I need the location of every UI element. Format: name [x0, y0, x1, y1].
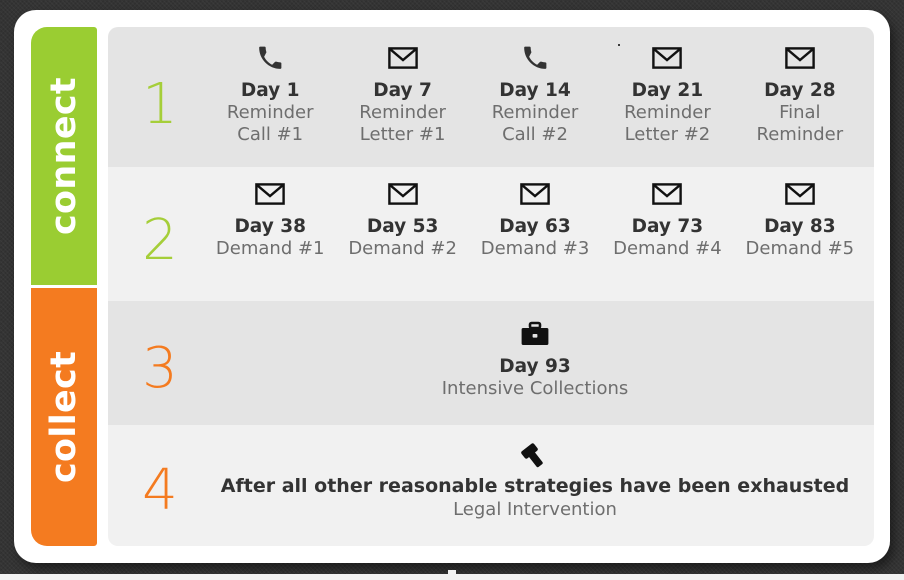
step-number-3: 3: [132, 341, 188, 397]
step-sub-line-1: Reminder: [227, 102, 314, 124]
envelope-icon: [652, 45, 682, 75]
step-sub-line-2: Call #2: [502, 124, 568, 146]
step-sub-line-1: Final: [779, 102, 820, 124]
stage-rail-connect[interactable]: connect: [31, 27, 97, 285]
envelope-icon: [255, 181, 285, 211]
workflow-card: connect collect 1 Day 1 Reminder Call #1: [14, 10, 890, 563]
step-sub-line-1: Demand #3: [481, 238, 590, 260]
step-sub-line-1: Reminder: [492, 102, 579, 124]
step-title: Day 7: [373, 79, 432, 102]
step-cell-day-83[interactable]: Day 83 Demand #5: [734, 181, 866, 301]
timeline-row-4[interactable]: 4 After all other reasonable strategies …: [108, 425, 874, 546]
envelope-icon: [520, 181, 550, 211]
step-cell-day-1[interactable]: Day 1 Reminder Call #1: [204, 45, 336, 167]
step-title: Day 53: [367, 215, 439, 238]
envelope-icon: [785, 45, 815, 75]
step-title: Day 63: [499, 215, 571, 238]
step-sub-line-1: Legal Intervention: [453, 499, 617, 521]
render-artifact-dot: [618, 44, 620, 46]
briefcase-icon: [520, 321, 550, 351]
timeline-panel: 1 Day 1 Reminder Call #1 Day 7 Reminder: [108, 27, 874, 546]
step-title: Day 73: [632, 215, 704, 238]
stage-rail-collect-label: collect: [31, 288, 97, 546]
envelope-icon: [652, 181, 682, 211]
step-cell-day-28[interactable]: Day 28 Final Reminder: [734, 45, 866, 167]
step-cell-day-14[interactable]: Day 14 Reminder Call #2: [469, 45, 601, 167]
step-sub-line-1: Demand #4: [613, 238, 722, 260]
step-title: After all other reasonable strategies ha…: [221, 475, 849, 499]
render-artifact-square: [448, 570, 456, 578]
step-sub-line-1: Demand #1: [216, 238, 325, 260]
step-cell-day-63[interactable]: Day 63 Demand #3: [469, 181, 601, 301]
stage-rail-connect-label: connect: [31, 27, 97, 285]
row-3-cells: Day 93 Intensive Collections: [204, 301, 866, 425]
step-title: Day 28: [764, 79, 836, 102]
timeline-row-3[interactable]: 3 Day 93 Intensive Collections: [108, 301, 874, 425]
step-sub-line-1: Demand #5: [746, 238, 855, 260]
phone-icon: [522, 45, 548, 75]
step-cell-day-53[interactable]: Day 53 Demand #2: [336, 181, 468, 301]
step-number-1: 1: [132, 77, 188, 133]
phone-icon: [257, 45, 283, 75]
step-sub-line-1: Demand #2: [348, 238, 457, 260]
envelope-icon: [388, 181, 418, 211]
row-4-cells: After all other reasonable strategies ha…: [204, 425, 866, 546]
step-sub-line-1: Reminder: [624, 102, 711, 124]
step-sub-line-1: Intensive Collections: [442, 378, 629, 400]
gavel-icon: [518, 441, 552, 471]
step-number-2: 2: [132, 213, 188, 269]
step-cell-day-7[interactable]: Day 7 Reminder Letter #1: [336, 45, 468, 167]
step-sub-line-2: Letter #1: [360, 124, 446, 146]
step-title: Day 83: [764, 215, 836, 238]
step-title: Day 93: [499, 355, 571, 378]
step-sub-line-2: Reminder: [757, 124, 844, 146]
row-2-cells: Day 38 Demand #1 Day 53 Demand #2 Day 63…: [204, 167, 866, 301]
step-cell-day-93[interactable]: Day 93 Intensive Collections: [204, 321, 866, 425]
step-cell-day-73[interactable]: Day 73 Demand #4: [601, 181, 733, 301]
step-number-4: 4: [132, 463, 188, 519]
step-title: Day 1: [241, 79, 300, 102]
step-sub-line-1: Reminder: [359, 102, 446, 124]
step-title: Day 21: [632, 79, 704, 102]
step-cell-day-38[interactable]: Day 38 Demand #1: [204, 181, 336, 301]
envelope-icon: [388, 45, 418, 75]
step-sub-line-2: Letter #2: [625, 124, 711, 146]
timeline-row-2[interactable]: 2 Day 38 Demand #1 Day 53 Demand #2: [108, 167, 874, 301]
step-sub-line-2: Call #1: [237, 124, 303, 146]
envelope-icon: [785, 181, 815, 211]
timeline-row-1[interactable]: 1 Day 1 Reminder Call #1 Day 7 Reminder: [108, 27, 874, 167]
stage-rail-collect[interactable]: collect: [31, 288, 97, 546]
step-cell-legal-intervention[interactable]: After all other reasonable strategies ha…: [204, 441, 866, 546]
step-title: Day 38: [234, 215, 306, 238]
row-1-cells: Day 1 Reminder Call #1 Day 7 Reminder Le…: [204, 27, 866, 167]
step-cell-day-21[interactable]: Day 21 Reminder Letter #2: [601, 45, 733, 167]
step-title: Day 14: [499, 79, 571, 102]
